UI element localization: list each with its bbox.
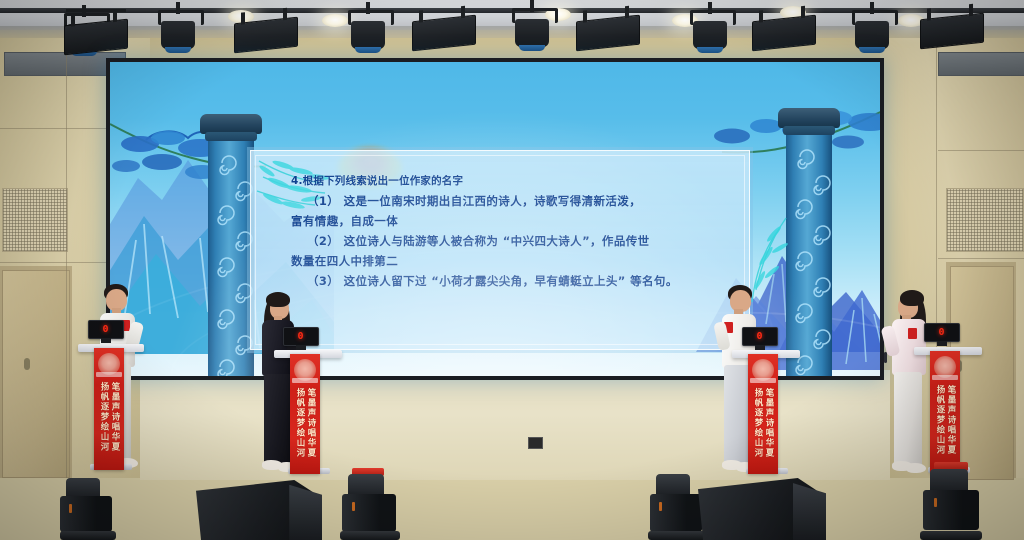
side-door-left[interactable] — [2, 270, 70, 478]
pillar-neck — [783, 126, 835, 135]
spotlight-lens — [697, 47, 723, 53]
moving-head-light — [60, 478, 116, 540]
wall-seam — [938, 258, 1024, 259]
banner-couplet: 笔墨声诗唱华夏 扬帆逐梦绘山河 — [748, 388, 778, 468]
podium-banner-4[interactable]: 笔墨声诗唱华夏 扬帆逐梦绘山河 — [930, 351, 960, 473]
fixture-hanger — [927, 8, 931, 20]
question-line: 4.根据下列线索说出一位作家的名字 — [291, 171, 739, 191]
contestant-badge — [908, 328, 917, 339]
fixture-hanger — [461, 6, 465, 18]
question-line: 富有情趣，自成一体 — [291, 211, 739, 231]
light-indicator — [352, 502, 355, 511]
handheld-microphone[interactable] — [884, 352, 887, 363]
monitor-side-panel — [289, 485, 322, 540]
cloud-pattern-pillar — [786, 126, 832, 380]
light-indicator — [69, 504, 72, 513]
logo-text-bar — [932, 375, 958, 380]
fixture-hanger — [113, 10, 117, 22]
wall-seam — [938, 150, 1024, 151]
light-indicator — [934, 498, 937, 507]
fixture-hanger — [583, 10, 587, 22]
light-base — [60, 531, 116, 540]
light-yoke — [650, 494, 702, 532]
banner-column-left: 扬帆逐梦绘山河 — [753, 388, 762, 468]
light-yoke — [60, 496, 112, 532]
banner-column-left: 扬帆逐梦绘山河 — [295, 388, 304, 468]
spotlight-body — [855, 21, 889, 49]
spotlight-body — [693, 21, 727, 49]
logo-text-bar — [292, 378, 318, 383]
stage-monitor-speaker — [196, 480, 322, 540]
pillar-cap — [200, 114, 262, 134]
fixture-hanger — [283, 8, 287, 20]
score-display-stand — [101, 338, 111, 343]
recessed-ceiling-light — [322, 14, 348, 27]
door-knob-left[interactable] — [24, 358, 30, 370]
question-line: （2） 这位诗人与陆游等人被合称为 “中兴四大诗人”，作品传世 — [291, 231, 739, 251]
light-base — [340, 531, 400, 540]
score-value: 0 — [89, 321, 123, 338]
spotlight-lens — [859, 47, 885, 53]
legs — [264, 374, 292, 466]
spotlight-body — [161, 21, 195, 49]
podium-banner-2[interactable]: 笔墨声诗唱华夏 扬帆逐梦绘山河 — [290, 354, 320, 474]
legs — [894, 372, 922, 466]
hair — [900, 290, 924, 306]
spotlight-lens — [165, 47, 191, 53]
acoustic-vent-panel — [2, 188, 68, 252]
pillar-neck — [205, 132, 257, 141]
moving-head-light — [920, 466, 982, 540]
spotlight-body — [351, 21, 385, 49]
pillar-cloud-pattern — [208, 141, 254, 380]
score-display-4: 0 — [924, 323, 960, 342]
fixture-hanger — [419, 10, 423, 22]
monitor-side-panel — [793, 483, 826, 540]
stage-monitor-speaker — [698, 478, 826, 540]
question-panel: 4.根据下列线索说出一位作家的名字 （1） 这是一位南宋时期出自江西的诗人，诗歌… — [250, 150, 750, 350]
fixture-hanger — [71, 14, 75, 26]
light-indicator — [659, 502, 662, 511]
light-yoke — [923, 490, 979, 530]
fixture-hanger — [759, 10, 763, 22]
logo-text-bar — [96, 372, 122, 377]
legs — [724, 365, 751, 465]
banner-column-left: 扬帆逐梦绘山河 — [99, 382, 108, 464]
score-display-3: 0 — [742, 327, 778, 346]
question-line: 数量在四人中排第二 — [291, 251, 739, 271]
fixture-hanger — [241, 12, 245, 24]
banner-column-right: 笔墨声诗唱华夏 — [110, 382, 119, 464]
score-value: 0 — [925, 324, 959, 341]
banner-couplet: 笔墨声诗唱华夏 扬帆逐梦绘山河 — [290, 388, 320, 468]
logo-text-bar — [750, 378, 776, 383]
spotlight-lens — [355, 47, 381, 53]
banner-column-right: 笔墨声诗唱华夏 — [764, 388, 773, 468]
fixture-hanger — [801, 6, 805, 18]
banner-couplet: 笔墨声诗唱华夏 扬帆逐梦绘山河 — [930, 385, 960, 467]
pillar-cap — [778, 108, 840, 128]
pillar-cloud-pattern — [786, 135, 832, 380]
banner-column-right: 笔墨声诗唱华夏 — [946, 385, 955, 467]
question-text: 4.根据下列线索说出一位作家的名字 （1） 这是一位南宋时期出自江西的诗人，诗歌… — [291, 171, 739, 291]
banner-couplet: 笔墨声诗唱华夏 扬帆逐梦绘山河 — [94, 382, 124, 464]
stage-scene: 4.根据下列线索说出一位作家的名字 （1） 这是一位南宋时期出自江西的诗人，诗歌… — [0, 0, 1024, 540]
light-yoke — [342, 494, 396, 532]
wall-seam — [66, 38, 67, 478]
question-line: （1） 这是一位南宋时期出自江西的诗人，诗歌写得清新活泼， — [291, 191, 739, 211]
podium-banner-3[interactable]: 笔墨声诗唱华夏 扬帆逐梦绘山河 — [748, 354, 778, 474]
question-line: （3） 这位诗人留下过 “小荷才露尖尖角，早有蜻蜓立上头” 等名句。 — [291, 271, 739, 291]
score-value: 0 — [284, 328, 318, 345]
podium-banner-1[interactable]: 笔墨声诗唱华夏 扬帆逐梦绘山河 — [94, 348, 124, 470]
score-value: 0 — [743, 328, 777, 345]
moving-head-light — [340, 472, 400, 540]
score-display-stand — [937, 341, 947, 346]
fixture-hanger — [625, 6, 629, 18]
hvac-duct — [938, 52, 1024, 76]
cloud-pattern-pillar — [208, 132, 254, 380]
light-base — [920, 531, 982, 540]
spotlight-body — [515, 19, 549, 47]
wall-power-outlet — [528, 437, 543, 449]
score-display-1: 0 — [88, 320, 124, 339]
acoustic-vent-panel — [946, 188, 1024, 252]
score-display-2: 0 — [283, 327, 319, 346]
banner-column-right: 笔墨声诗唱华夏 — [306, 388, 315, 468]
fixture-hanger — [969, 4, 973, 16]
spotlight-lens — [519, 45, 545, 51]
banner-column-left: 扬帆逐梦绘山河 — [935, 385, 944, 467]
hair — [266, 292, 290, 307]
